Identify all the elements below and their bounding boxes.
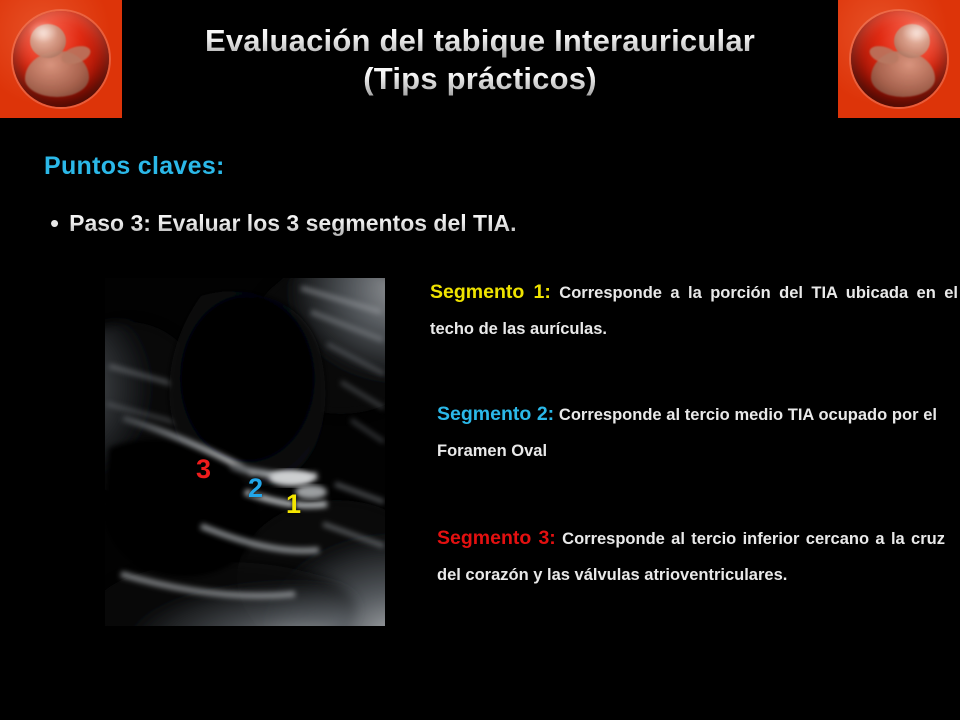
fetus-logo-left xyxy=(0,0,122,118)
segment-1-label: Segmento 1: xyxy=(430,281,551,303)
logo-gloss-highlight xyxy=(902,21,932,43)
slide-header: Evaluación del tabique Interauricular (T… xyxy=(0,0,960,120)
fetus-logo-disc xyxy=(851,11,947,107)
bullet-item-label: Paso 3: Evaluar los 3 segmentos del TIA. xyxy=(69,208,516,238)
segment-1-description: Segmento 1: Corresponde a la porción del… xyxy=(430,274,958,347)
bullet-marker-icon: • xyxy=(50,208,59,238)
title-line-1: Evaluación del tabique Interauricular xyxy=(122,22,838,60)
ultrasound-label-1: 1 xyxy=(286,491,301,518)
slide-root: Evaluación del tabique Interauricular (T… xyxy=(0,0,960,720)
segment-2-description: Segmento 2: Corresponde al tercio medio … xyxy=(437,396,937,469)
ultrasound-label-2: 2 xyxy=(248,475,263,502)
bullet-list-item: • Paso 3: Evaluar los 3 segmentos del TI… xyxy=(50,208,517,238)
page-title: Evaluación del tabique Interauricular (T… xyxy=(122,22,838,98)
segment-3-label: Segmento 3: xyxy=(437,527,556,549)
title-line-2: (Tips prácticos) xyxy=(122,60,838,98)
segment-3-description: Segmento 3: Corresponde al tercio inferi… xyxy=(437,520,945,593)
ultrasound-image: 3 2 1 xyxy=(105,278,385,626)
fetus-logo-right xyxy=(838,0,960,118)
logo-gloss-highlight xyxy=(28,21,58,43)
key-points-heading: Puntos claves: xyxy=(44,152,225,181)
fetus-logo-disc xyxy=(13,11,109,107)
segment-2-label: Segmento 2: xyxy=(437,403,554,425)
ultrasound-label-3: 3 xyxy=(196,456,211,483)
ultrasound-canvas xyxy=(105,278,385,626)
